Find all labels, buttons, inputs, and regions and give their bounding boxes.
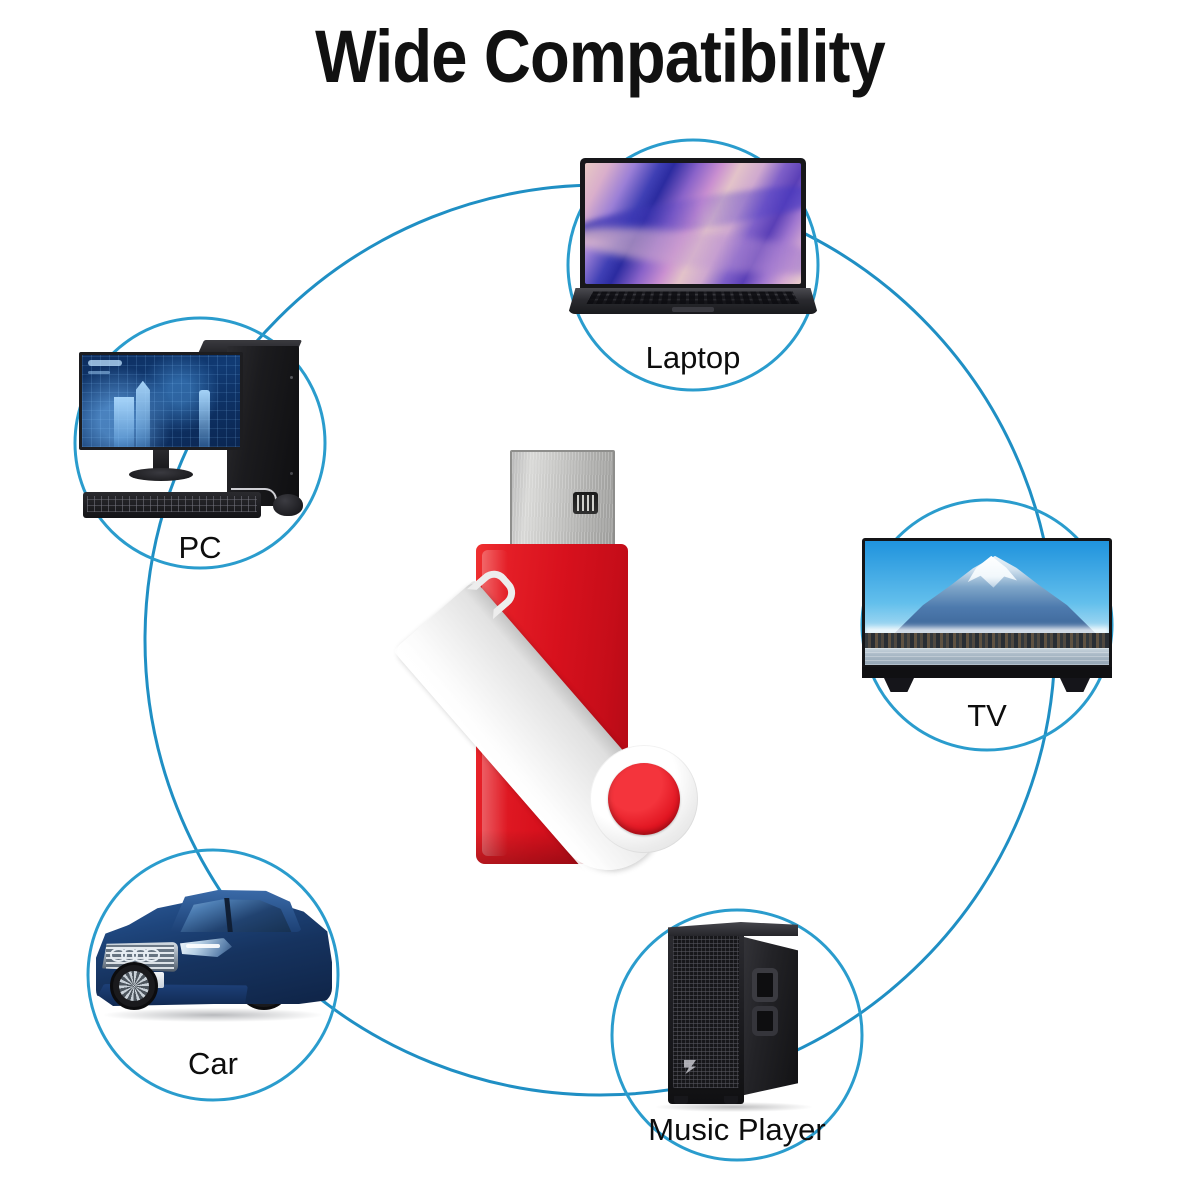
- usb-pivot-button: [608, 763, 680, 835]
- node-label-pc: PC: [178, 530, 221, 566]
- node-laptop[interactable]: Laptop: [568, 140, 818, 390]
- node-car[interactable]: Car: [88, 850, 338, 1100]
- node-label-tv: TV: [967, 698, 1007, 734]
- node-pc[interactable]: PC: [75, 318, 325, 568]
- usb-flash-drive: [468, 442, 820, 872]
- node-label-car: Car: [188, 1046, 238, 1082]
- node-label-laptop: Laptop: [646, 340, 741, 376]
- usb-connector-icon: [510, 450, 615, 555]
- node-music-player[interactable]: Music Player: [612, 910, 862, 1160]
- node-label-music-player: Music Player: [648, 1112, 825, 1148]
- node-tv[interactable]: TV: [862, 500, 1112, 750]
